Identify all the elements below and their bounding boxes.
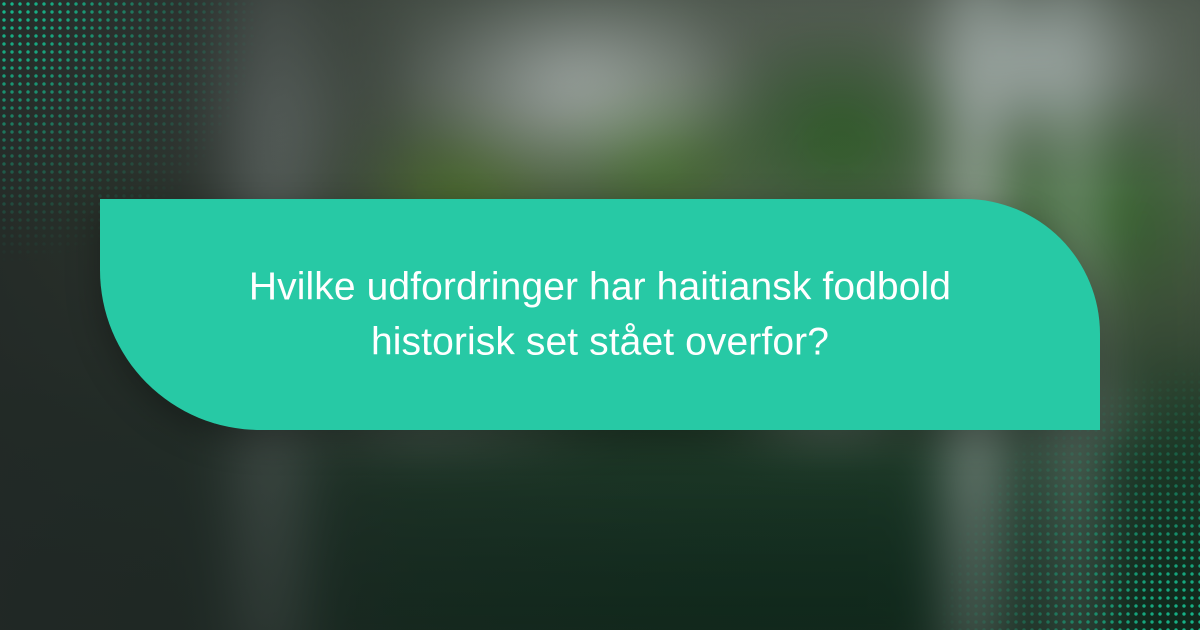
question-card: Hvilke udfordringer har haitiansk fodbol…	[100, 199, 1100, 430]
question-text: Hvilke udfordringer har haitiansk fodbol…	[100, 259, 1100, 370]
social-card-canvas: Hvilke udfordringer har haitiansk fodbol…	[0, 0, 1200, 630]
